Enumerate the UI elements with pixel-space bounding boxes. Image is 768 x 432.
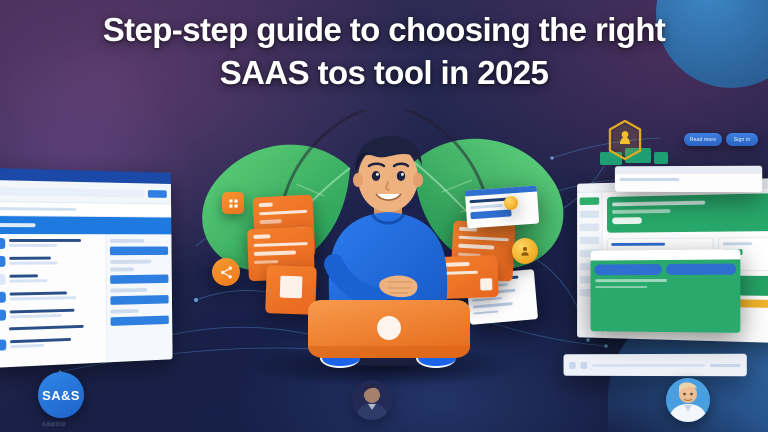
sidebar-item-inbox[interactable] [580, 210, 600, 218]
pill-button-secondary[interactable]: Sign in [726, 133, 758, 146]
share-network-icon[interactable] [212, 258, 240, 286]
sidebar-item-tasks[interactable] [580, 223, 600, 231]
pill-button-primary[interactable]: Read more [684, 133, 722, 146]
left-dashboard-search-input[interactable] [0, 187, 144, 197]
side-panel-button[interactable] [110, 274, 168, 283]
left-dashboard-filter-row[interactable] [0, 202, 171, 218]
green-window-button-primary[interactable] [594, 264, 662, 275]
apps-grid-icon[interactable] [222, 192, 244, 214]
man-with-laptop-illustration [296, 132, 481, 382]
list-item[interactable] [0, 273, 101, 285]
left-dashboard-section-header [0, 216, 171, 234]
left-dashboard-mock[interactable] [0, 168, 173, 368]
saas-logo-badge[interactable]: SA&S [38, 372, 84, 418]
left-dashboard-toolbar [0, 180, 171, 205]
side-panel-button[interactable] [110, 295, 168, 305]
bar-icon [569, 362, 576, 369]
green-small-card [654, 152, 668, 164]
side-panel-button[interactable] [110, 246, 168, 255]
headline-line-1: Step-step guide to choosing the right [103, 11, 666, 48]
left-dashboard-primary-button[interactable] [148, 190, 167, 198]
headline-line-2: SAAS tos tool in 2025 [34, 51, 734, 94]
bar-icon [581, 362, 588, 369]
page-title: Step-step guide to choosing the right SA… [0, 8, 768, 94]
right-bottom-bar[interactable] [564, 354, 747, 377]
list-item[interactable] [0, 255, 101, 267]
list-item[interactable] [0, 336, 102, 351]
list-item[interactable] [0, 290, 101, 303]
list-item[interactable] [0, 238, 101, 249]
hero-banner: Step-step guide to choosing the right SA… [0, 0, 768, 432]
list-item[interactable] [0, 324, 102, 333]
left-dashboard-list[interactable] [0, 234, 107, 368]
green-overlay-window[interactable] [591, 249, 741, 333]
user-avatar[interactable] [666, 378, 710, 422]
left-dashboard-body [0, 234, 173, 368]
coin-icon[interactable] [512, 238, 538, 264]
side-panel-button[interactable] [111, 316, 169, 326]
left-dashboard-side-panel[interactable] [105, 234, 172, 362]
coin-small-icon [504, 196, 518, 210]
saas-badge-label: SA&S [42, 388, 80, 403]
list-item[interactable] [0, 307, 102, 321]
banner-cta-button[interactable] [612, 217, 642, 224]
sidebar-item-reports[interactable] [580, 237, 600, 245]
green-window-button-secondary[interactable] [666, 263, 736, 274]
footer-caption: saasio [42, 421, 66, 428]
laptop-logo [377, 316, 401, 340]
right-dashboard-banner [607, 193, 768, 233]
right-top-window[interactable] [615, 166, 762, 193]
user-avatar[interactable] [352, 380, 392, 420]
sidebar-item-home[interactable] [580, 197, 600, 205]
hex-trophy-badge-icon[interactable] [608, 120, 642, 160]
